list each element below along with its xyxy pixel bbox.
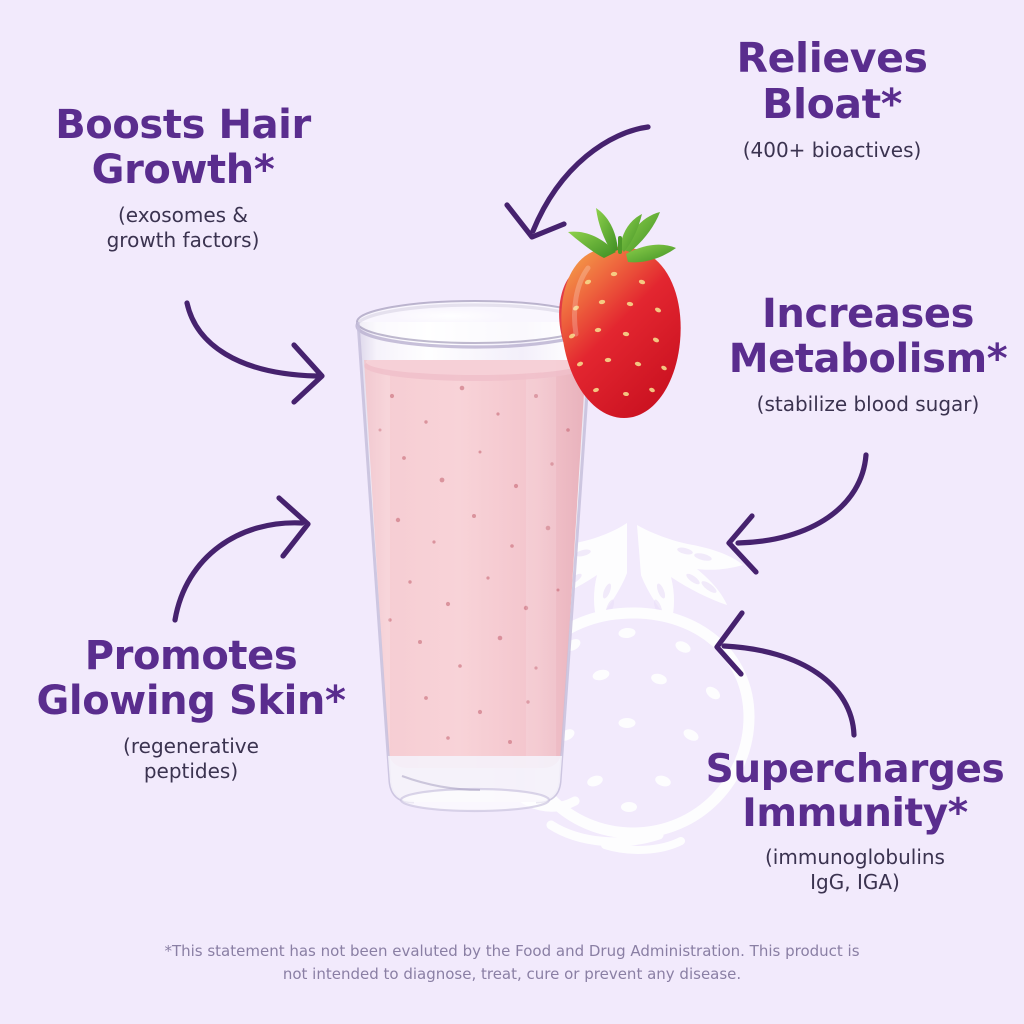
benefit-promotes-glowing-skin: Promotes Glowing Skin* (regenerative pep… — [16, 634, 366, 784]
benefit-title: Promotes Glowing Skin* — [16, 634, 366, 724]
benefit-title: Increases Metabolism* — [716, 292, 1020, 382]
fda-disclaimer: *This statement has not been evaluted by… — [162, 940, 862, 987]
benefit-subtitle: (400+ bioactives) — [648, 138, 1016, 163]
arrow-to-glass-from-immunity — [717, 613, 854, 735]
arrow-to-glass-from-metabolism — [729, 455, 866, 572]
benefit-boosts-hair-growth: Boosts Hair Growth* (exosomes & growth f… — [18, 103, 348, 253]
benefit-subtitle: (immunoglobulins IgG, IGA) — [690, 845, 1020, 895]
benefit-title: Supercharges Immunity* — [690, 748, 1020, 835]
arrow-to-glass-from-skin — [175, 498, 308, 620]
benefit-title: Relieves Bloat* — [648, 36, 1016, 128]
benefit-relieves-bloat: Relieves Bloat* (400+ bioactives) — [648, 36, 1016, 163]
benefit-increases-metabolism: Increases Metabolism* (stabilize blood s… — [716, 292, 1020, 417]
arrow-to-glass-from-hair — [187, 303, 322, 402]
benefit-title: Boosts Hair Growth* — [18, 103, 348, 193]
benefit-subtitle: (regenerative peptides) — [16, 734, 366, 784]
infographic-canvas: Boosts Hair Growth* (exosomes & growth f… — [0, 0, 1024, 1024]
product-photo — [330, 190, 730, 815]
benefit-supercharges-immunity: Supercharges Immunity* (immunoglobulins … — [690, 748, 1020, 895]
benefit-subtitle: (stabilize blood sugar) — [716, 392, 1020, 417]
benefit-subtitle: (exosomes & growth factors) — [18, 203, 348, 253]
